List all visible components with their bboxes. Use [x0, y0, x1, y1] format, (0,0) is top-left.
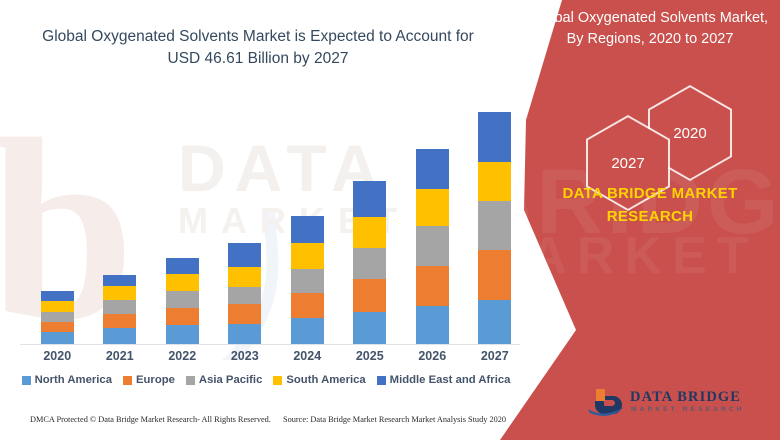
bar-segment[interactable]	[103, 300, 136, 314]
bar-segment[interactable]	[166, 291, 199, 308]
logo-subtitle: MARKET RESEARCH	[631, 406, 745, 413]
bar-segment[interactable]	[41, 312, 74, 322]
legend-label: Europe	[136, 374, 175, 386]
bar-segment[interactable]	[353, 217, 386, 248]
bar-segment[interactable]	[228, 267, 261, 287]
legend-label: South America	[286, 374, 365, 386]
panel-brand-line1: DATA BRIDGE MARKET	[526, 182, 774, 205]
bar-segment[interactable]	[353, 181, 386, 216]
hexagon-2020-label: 2020	[673, 125, 706, 142]
bar-segment[interactable]	[416, 266, 449, 305]
legend-swatch	[22, 376, 31, 385]
legend-item[interactable]: South America	[273, 374, 365, 386]
x-axis-label-2027: 2027	[465, 349, 525, 363]
legend-swatch	[186, 376, 195, 385]
bar-segment[interactable]	[103, 328, 136, 344]
bar-segment[interactable]	[103, 275, 136, 286]
x-axis-label-2025: 2025	[340, 349, 400, 363]
bar-segment[interactable]	[166, 274, 199, 291]
bar-segment[interactable]	[416, 306, 449, 344]
legend-label: Middle East and Africa	[390, 374, 511, 386]
legend-label: Asia Pacific	[199, 374, 262, 386]
x-axis-label-2023: 2023	[215, 349, 275, 363]
legend-item[interactable]: Europe	[123, 374, 175, 386]
bar-segment[interactable]	[353, 312, 386, 344]
bar-segment[interactable]	[228, 287, 261, 304]
bar-group[interactable]	[228, 243, 261, 344]
bar-segment[interactable]	[478, 112, 511, 161]
bar-group[interactable]	[478, 112, 511, 344]
x-axis-label-2026: 2026	[402, 349, 462, 363]
bar-segment[interactable]	[416, 189, 449, 226]
hexagon-2027-label: 2027	[611, 155, 644, 172]
bar-segment[interactable]	[478, 300, 511, 344]
bar-group[interactable]	[353, 181, 386, 344]
bar-segment[interactable]	[478, 250, 511, 299]
bar-segment[interactable]	[41, 332, 74, 344]
panel-brand-text: DATA BRIDGE MARKET RESEARCH	[526, 182, 774, 228]
panel-brand-line2: RESEARCH	[526, 205, 774, 228]
data-bridge-logo: DATA BRIDGE MARKET RESEARCH	[586, 386, 771, 426]
bar-segment[interactable]	[291, 293, 324, 318]
chart-title: Global Oxygenated Solvents Market is Exp…	[28, 26, 488, 70]
legend-item[interactable]: Asia Pacific	[186, 374, 262, 386]
bar-segment[interactable]	[416, 226, 449, 266]
hexagon-badges: 2020 2027	[540, 85, 770, 195]
x-axis-label-2024: 2024	[277, 349, 337, 363]
legend-swatch	[123, 376, 132, 385]
bar-segment[interactable]	[166, 325, 199, 344]
right-red-panel: BRIDGE MARKET Global Oxygenated Solvents…	[490, 0, 780, 440]
legend-swatch	[273, 376, 282, 385]
panel-title: Global Oxygenated Solvents Market, By Re…	[526, 8, 774, 50]
bar-segment[interactable]	[353, 248, 386, 279]
bar-segment[interactable]	[291, 216, 324, 243]
x-axis-line	[20, 344, 520, 345]
bar-segment[interactable]	[41, 301, 74, 312]
logo-b-icon	[586, 387, 626, 421]
bar-group[interactable]	[166, 258, 199, 344]
bar-segment[interactable]	[41, 291, 74, 301]
bar-segment[interactable]	[478, 201, 511, 250]
chart-legend: North AmericaEuropeAsia PacificSouth Ame…	[12, 374, 520, 386]
bar-segment[interactable]	[353, 279, 386, 311]
legend-swatch	[377, 376, 386, 385]
bar-segment[interactable]	[103, 314, 136, 328]
legend-item[interactable]: Middle East and Africa	[377, 374, 511, 386]
bar-segment[interactable]	[291, 269, 324, 293]
bar-segment[interactable]	[416, 149, 449, 189]
bar-group[interactable]	[291, 216, 324, 344]
legend-label: North America	[35, 374, 112, 386]
bar-segment[interactable]	[103, 286, 136, 300]
bar-segment[interactable]	[166, 258, 199, 274]
bar-segment[interactable]	[41, 322, 74, 332]
bar-segment[interactable]	[291, 243, 324, 268]
infographic-root: b DATA MARKET Global Oxygenated Solvents…	[0, 0, 780, 440]
bar-group[interactable]	[103, 275, 136, 344]
bar-group[interactable]	[41, 291, 74, 344]
x-axis-label-2021: 2021	[90, 349, 150, 363]
bar-segment[interactable]	[478, 162, 511, 201]
bar-segment[interactable]	[228, 243, 261, 267]
legend-item[interactable]: North America	[22, 374, 112, 386]
panel-watermark-market: MARKET	[490, 226, 758, 286]
bar-segment[interactable]	[291, 318, 324, 344]
chart-plot-area	[20, 95, 520, 345]
bar-group[interactable]	[416, 149, 449, 344]
x-axis-label-2020: 2020	[27, 349, 87, 363]
logo-title: DATA BRIDGE	[630, 389, 741, 406]
footer-dmca-text: DMCA Protected © Data Bridge Market Rese…	[30, 415, 271, 424]
x-axis-labels: 20202021202220232024202520262027	[20, 349, 520, 369]
bar-series-container	[20, 95, 520, 344]
bar-segment[interactable]	[228, 304, 261, 324]
bar-segment[interactable]	[166, 308, 199, 325]
bar-segment[interactable]	[228, 324, 261, 344]
footer-source-text: Source: Data Bridge Market Research Mark…	[283, 415, 506, 424]
x-axis-label-2022: 2022	[152, 349, 212, 363]
